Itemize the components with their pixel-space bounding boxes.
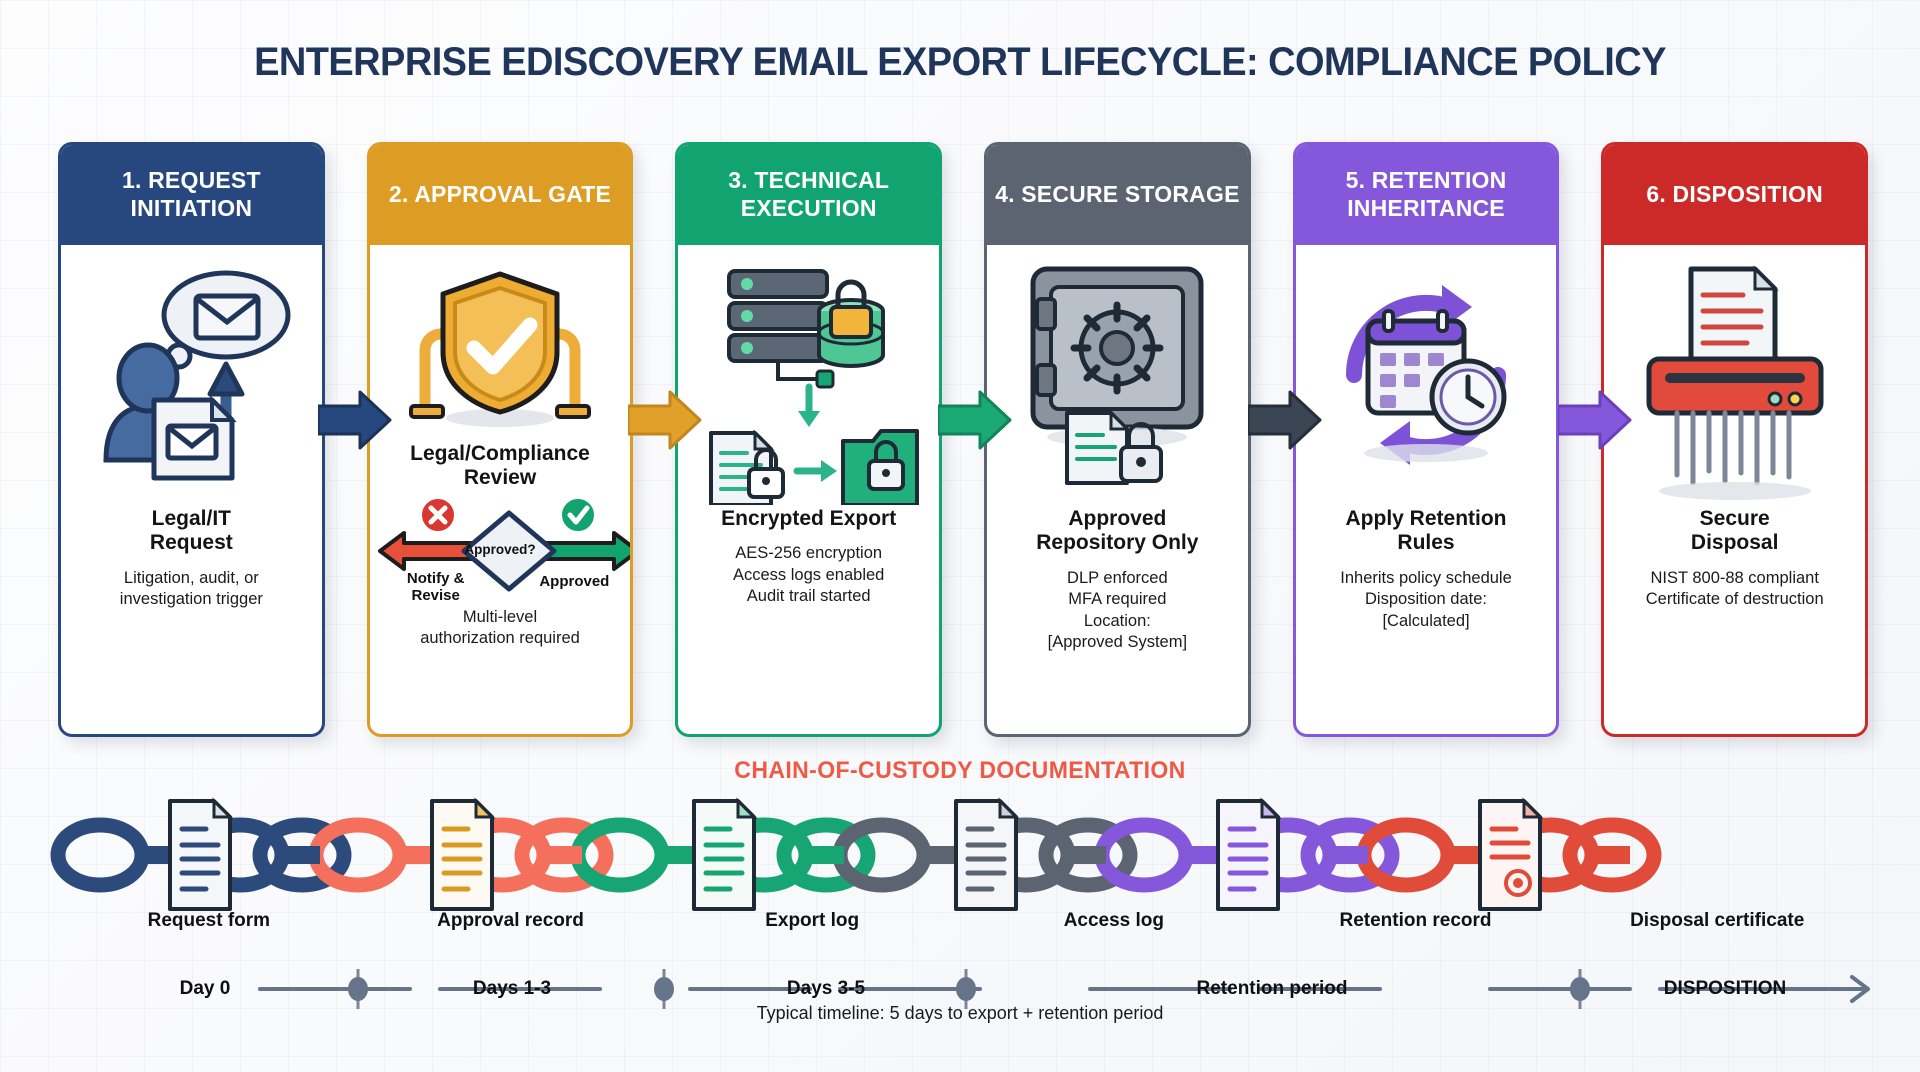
step-card-header: 4. SECURE STORAGE [987,145,1248,245]
chain-of-custody-heading: CHAIN-OF-CUSTODY DOCUMENTATION [38,757,1881,785]
paper-shredder-icon [1614,255,1855,505]
step-card-body: Approved Repository Only DLP enforced MF… [987,245,1248,734]
calendar-clock-cycle-icon [1306,255,1547,505]
infographic-canvas: ENTERPRISE EDISCOVERY EMAIL EXPORT LIFEC… [0,0,1920,1072]
step-card-approval-gate[interactable]: 2. APPROVAL GATE Legal/Compliance Review [367,142,634,737]
step-card-description: DLP enforced MFA required Location: [App… [1048,568,1187,654]
arrow-step3-to-step4 [938,390,1012,450]
step-card-request-initiation[interactable]: 1. REQUEST INITIATION [58,142,325,737]
step-card-description: AES-256 encryption Access logs enabled A… [733,543,884,607]
step-card-header: 2. APPROVAL GATE [370,145,631,245]
step-card-disposition[interactable]: 6. DISPOSITION [1601,142,1868,737]
step-card-header: 5. RETENTION INHERITANCE [1296,145,1557,245]
decision-reject-label: Notify & Revise [390,570,482,605]
arrow-step5-to-step6 [1558,390,1632,450]
person-thinking-email-document-icon [71,255,312,505]
chain-item-label: Access log [963,910,1265,932]
chain-of-custody-graphic [40,795,1880,915]
step-card-title: Secure Disposal [1691,507,1779,556]
chain-item-label: Approval record [360,910,662,932]
step-card-header: 6. DISPOSITION [1604,145,1865,245]
arrow-step4-to-step5 [1248,390,1322,450]
step-card-body: Legal/IT Request Litigation, audit, or i… [61,245,322,734]
step-card-body: Legal/Compliance Review [370,245,631,734]
timeline-label: Days 3-5 [787,978,865,1000]
timeline-label: Retention period [1197,978,1348,1000]
arrow-step1-to-step2 [318,390,392,450]
arrow-step2-to-step3 [628,390,702,450]
step-card-body: Secure Disposal NIST 800-88 compliant Ce… [1604,245,1865,734]
timeline-footnote: Typical timeline: 5 days to export + ret… [0,1003,1920,1024]
chain-of-custody-labels: Request form Approval record Export log … [58,910,1868,932]
server-lock-encrypted-file-icon [688,255,929,505]
safe-vault-locked-document-icon [997,255,1238,505]
step-card-header: 3. TECHNICAL EXECUTION [678,145,939,245]
chain-item-label: Export log [661,910,963,932]
step-card-secure-storage[interactable]: 4. SECURE STORAGE [984,142,1251,737]
step-card-description: NIST 800-88 compliant Certificate of des… [1646,568,1824,611]
step-card-description: Litigation, audit, or investigation trig… [120,568,263,611]
timeline-label: Days 1-3 [473,978,551,1000]
step-card-technical-execution[interactable]: 3. TECHNICAL EXECUTION [675,142,942,737]
step-card-retention-inheritance[interactable]: 5. RETENTION INHERITANCE [1293,142,1560,737]
decision-diamond-label: Approved? [464,542,535,557]
step-card-header: 1. REQUEST INITIATION [61,145,322,245]
timeline-label: DISPOSITION [1664,978,1786,1000]
page-title: ENTERPRISE EDISCOVERY EMAIL EXPORT LIFEC… [48,40,1872,85]
chain-item-label: Retention record [1265,910,1567,932]
step-card-title: Legal/IT Request [150,507,233,556]
timeline-label: Day 0 [180,978,231,1000]
step-card-body: Encrypted Export AES-256 encryption Acce… [678,245,939,734]
step-card-title: Encrypted Export [721,507,896,531]
step-card-title: Approved Repository Only [1036,507,1198,556]
shield-check-gate-icon [380,255,621,440]
approval-decision-group: Approved? Notify & Revise Approved [380,495,621,605]
step-card-description: Multi-level authorization required [420,607,580,650]
step-card-description: Inherits policy schedule Disposition dat… [1340,568,1512,632]
step-card-title: Legal/Compliance Review [410,442,590,491]
step-card-title: Apply Retention Rules [1346,507,1507,556]
decision-approve-label: Approved [524,573,624,590]
chain-item-label: Request form [58,910,360,932]
step-card-body: Apply Retention Rules Inherits policy sc… [1296,245,1557,734]
chain-item-label: Disposal certificate [1566,910,1868,932]
